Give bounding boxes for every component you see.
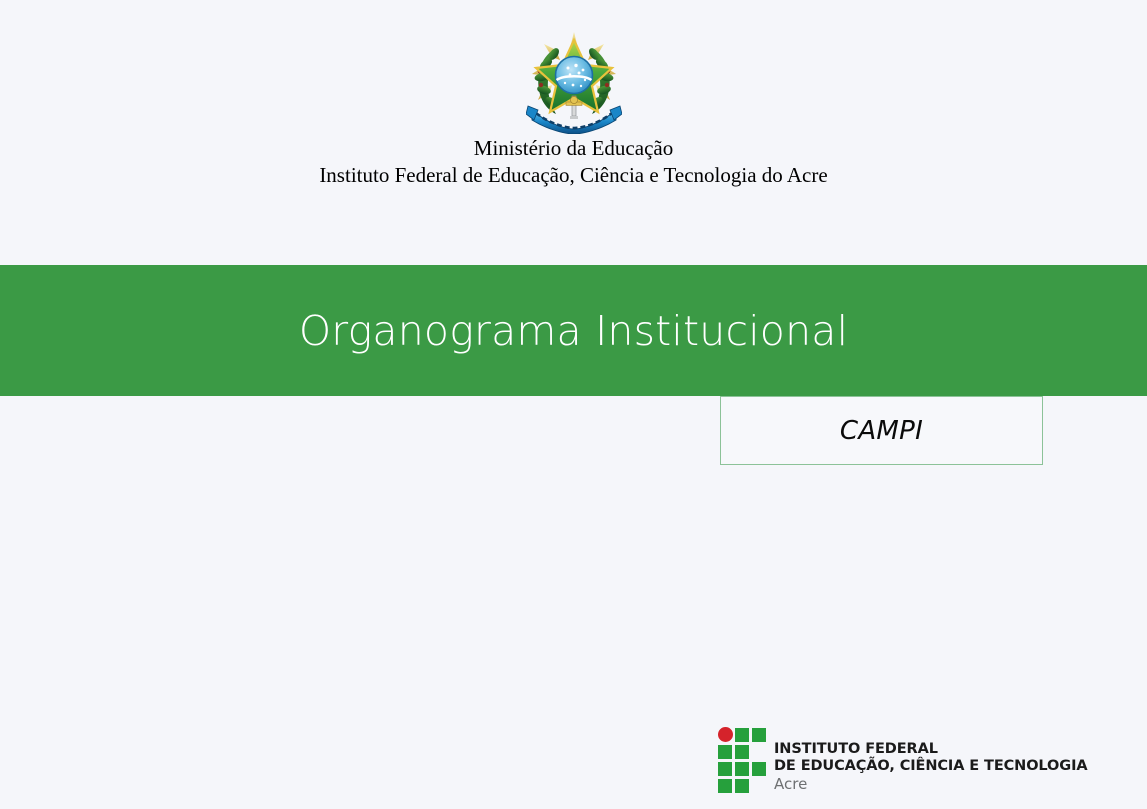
page-title: Organograma Institucional <box>0 265 1147 396</box>
ifac-logo-line-1: INSTITUTO FEDERAL <box>774 741 1088 758</box>
org-node-campi-label: CAMPI <box>840 416 923 446</box>
ifac-logo: INSTITUTO FEDERAL DE EDUCAÇÃO, CIÊNCIA E… <box>718 727 1048 797</box>
ifac-logo-text: INSTITUTO FEDERAL DE EDUCAÇÃO, CIÊNCIA E… <box>774 727 1088 794</box>
header-institution-line: Instituto Federal de Educação, Ciência e… <box>0 163 1147 187</box>
header-ministry-line: Ministério da Educação <box>0 136 1147 160</box>
ifac-logo-line-3: Acre <box>774 775 1088 794</box>
org-node-campi[interactable]: CAMPI <box>720 396 1043 465</box>
title-banner: Organograma Institucional <box>0 265 1147 396</box>
brazil-coat-of-arms-icon <box>526 30 622 134</box>
ifac-logo-line-2: DE EDUCAÇÃO, CIÊNCIA E TECNOLOGIA <box>774 758 1088 775</box>
document-header: Ministério da Educação Instituto Federal… <box>0 0 1147 265</box>
if-grid-logo-icon <box>718 727 766 793</box>
